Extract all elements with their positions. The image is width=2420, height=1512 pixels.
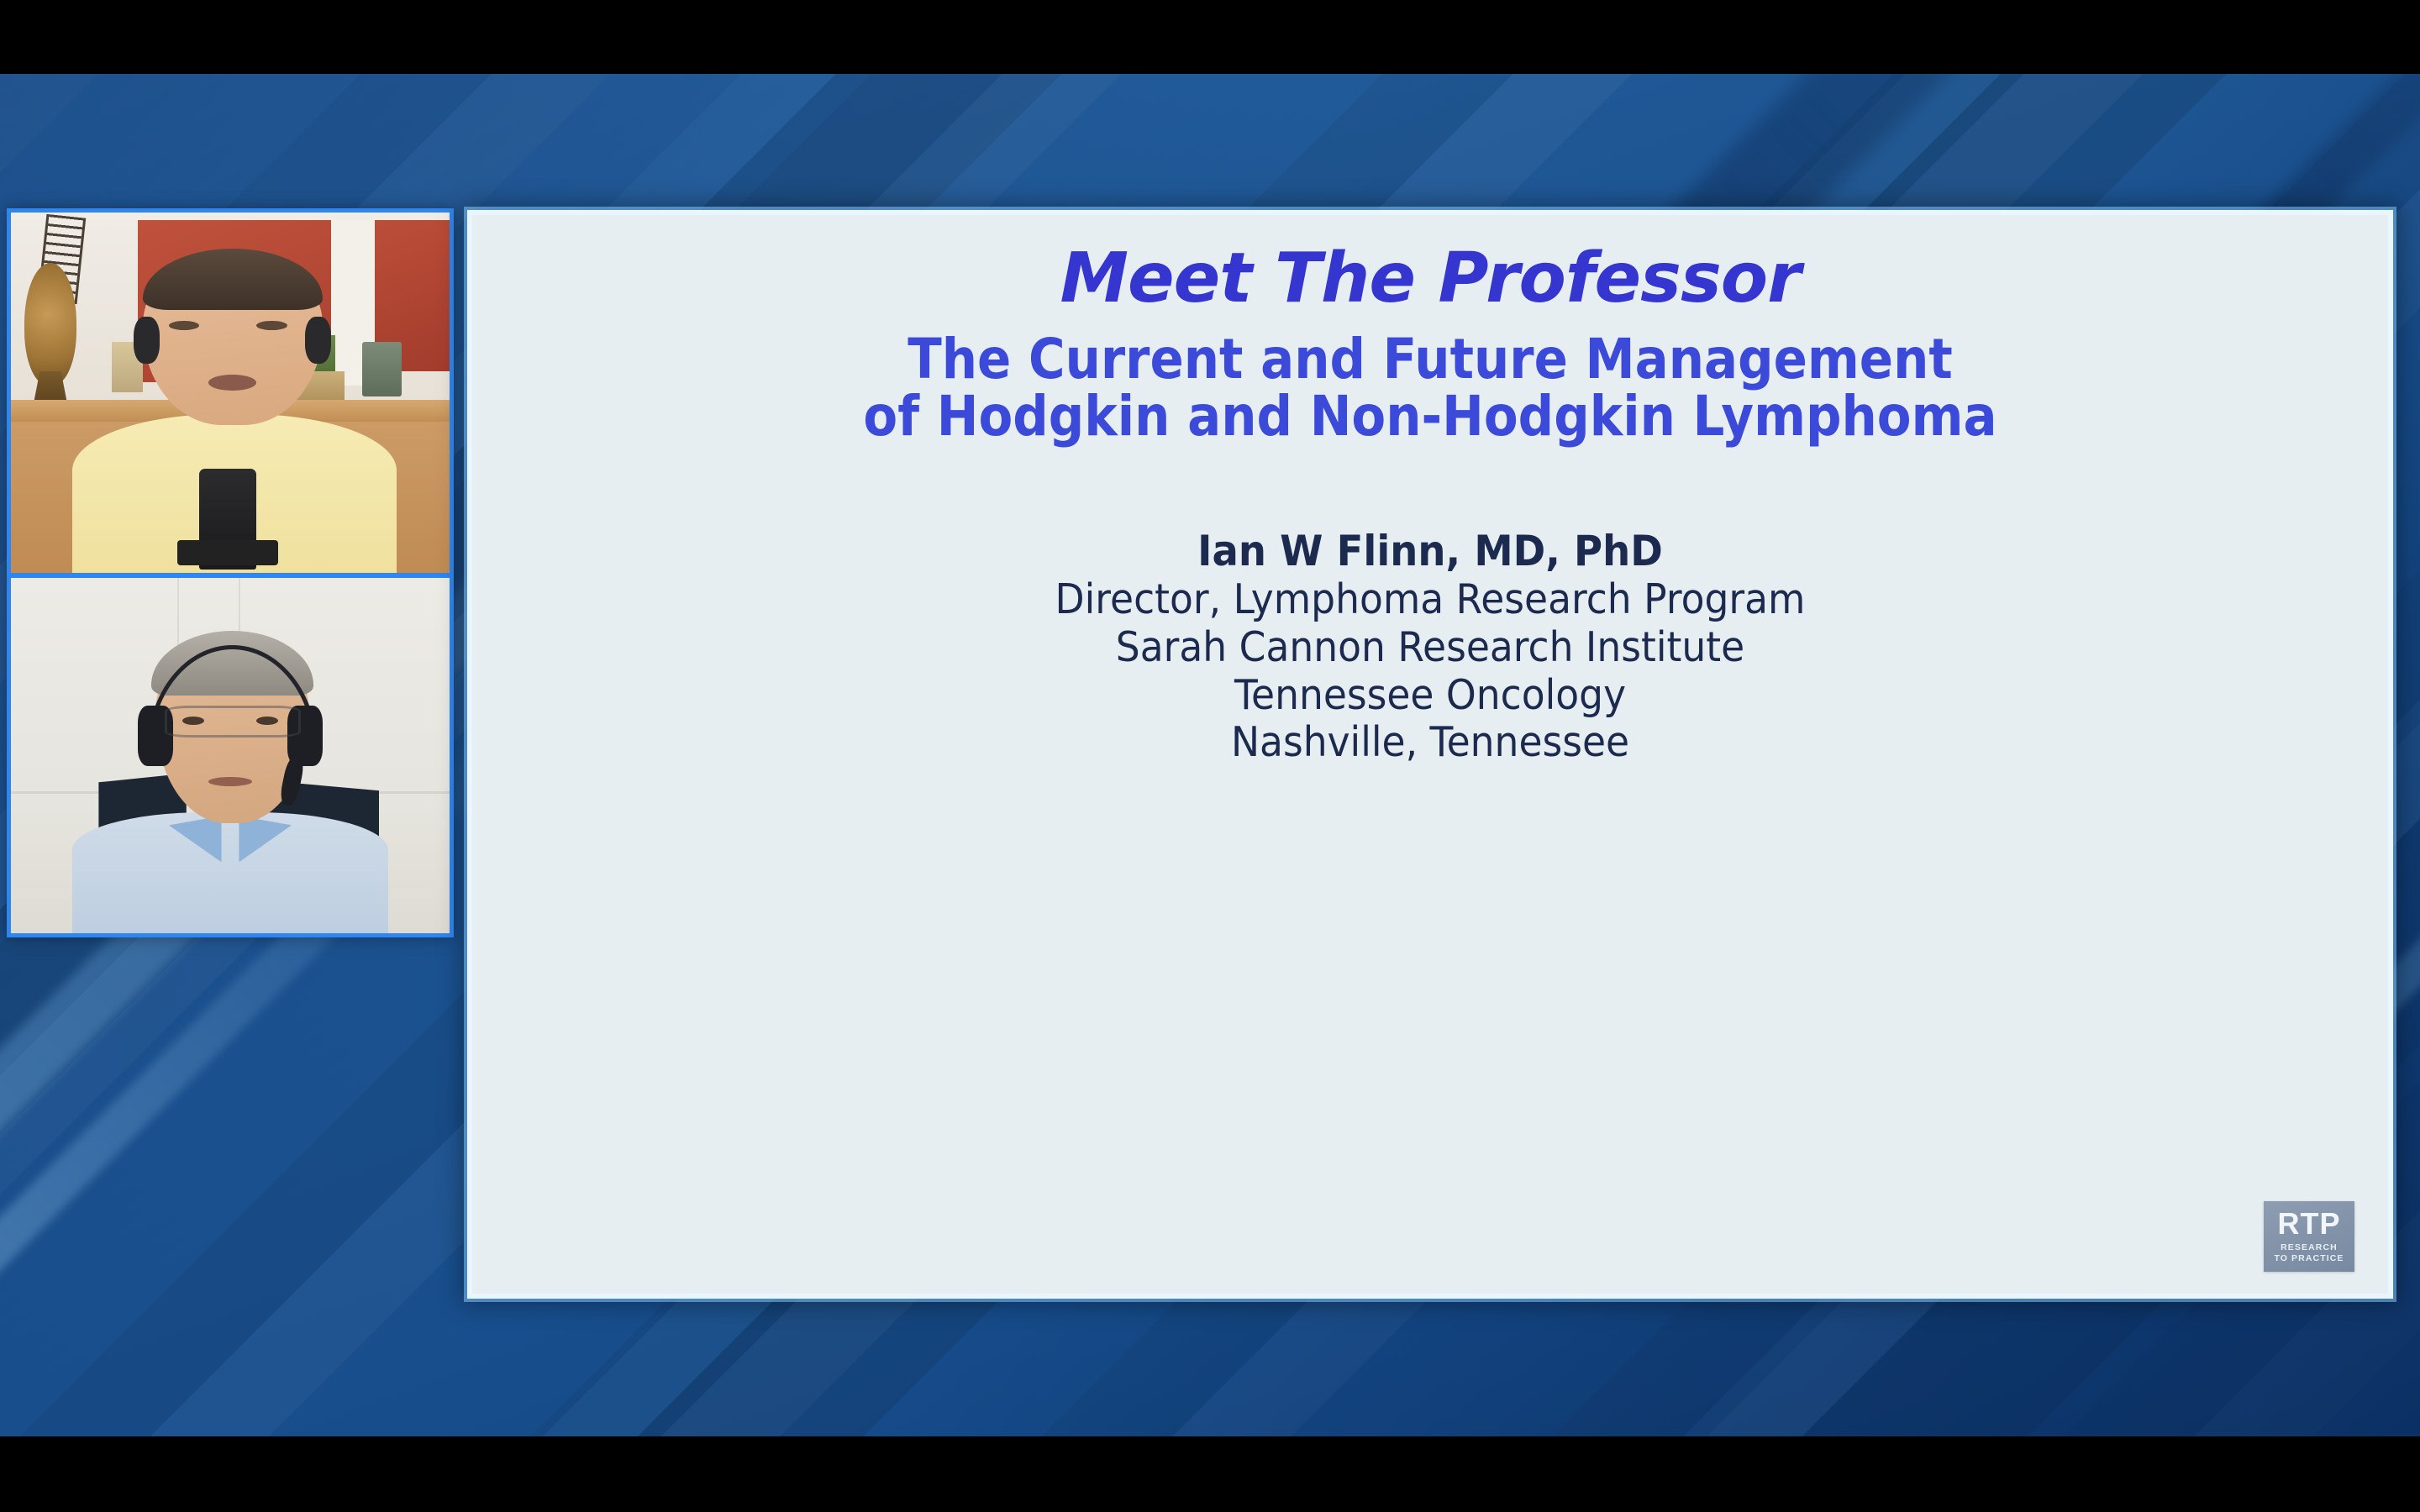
speaker-bottom-mouth <box>208 777 252 786</box>
letterbox-bar-top <box>0 0 2420 74</box>
rtp-logo-subtitle-line-1: RESEARCH <box>2281 1242 2338 1253</box>
slide-subtitle-line-1: The Current and Future Management <box>568 331 2292 388</box>
presenter-name: Ian W Flinn, MD, PhD <box>539 526 2321 576</box>
rtp-logo-mark: RTP <box>2278 1209 2341 1239</box>
speaker-bottom-feed <box>11 578 450 933</box>
presenter-affiliation-line-4: Nashville, Tennessee <box>539 719 2321 767</box>
presenter-affiliation-line-2: Sarah Cannon Research Institute <box>539 624 2321 672</box>
participant-video-panel[interactable] <box>7 208 454 937</box>
decor-globe <box>24 263 77 386</box>
presenter-affiliation-line-3: Tennessee Oncology <box>539 672 2321 720</box>
speaker-top-eye-right <box>256 321 287 330</box>
letterbox-bar-bottom <box>0 1436 2420 1512</box>
speaker-top-feed <box>11 213 450 573</box>
slide-title: Meet The Professor <box>472 239 2388 318</box>
headset-earcup-left-icon <box>134 317 160 364</box>
presenter-block: Ian W Flinn, MD, PhD Director, Lymphoma … <box>539 526 2321 767</box>
headset-earcup-right-icon <box>305 317 331 364</box>
speaker-top-eye-left <box>169 321 200 330</box>
slide-subtitle-line-2: of Hodgkin and Non-Hodgkin Lymphoma <box>568 388 2292 445</box>
video-tile-speaker-top[interactable] <box>11 213 450 573</box>
slide-subtitle: The Current and Future Management of Hod… <box>568 331 2292 445</box>
rtp-logo-subtitle-line-2: TO PRACTICE <box>2274 1253 2344 1264</box>
presentation-stage: Meet The Professor The Current and Futur… <box>0 0 2420 1512</box>
microphone-mount <box>177 540 278 565</box>
presenter-affiliation-line-1: Director, Lymphoma Research Program <box>539 576 2321 624</box>
speaker-bottom-eye-left <box>182 717 204 725</box>
rtp-logo: RTP RESEARCH TO PRACTICE <box>2264 1201 2354 1272</box>
speaker-bottom-torso <box>72 812 388 933</box>
video-tile-speaker-bottom[interactable] <box>11 573 450 933</box>
decor-jar <box>362 342 402 396</box>
slide-content: Meet The Professor The Current and Futur… <box>472 215 2388 1294</box>
shared-slide[interactable]: Meet The Professor The Current and Futur… <box>467 210 2393 1299</box>
